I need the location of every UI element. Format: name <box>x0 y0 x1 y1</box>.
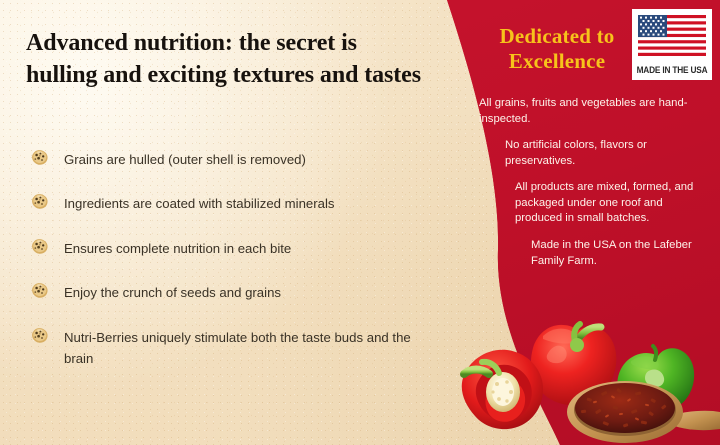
quality-claims-list: All grains, fruits and vegetables are ha… <box>455 96 720 280</box>
nutri-berry-icon <box>30 149 49 167</box>
benefit-list: Grains are hulled (outer shell is remove… <box>30 148 430 391</box>
panel-heading: Dedicated to Excellence <box>467 24 647 74</box>
list-item: Ingredients are coated with stabilized m… <box>30 192 430 214</box>
list-item-label: Nutri-Berries uniquely stimulate both th… <box>64 326 430 370</box>
list-item: Ensures complete nutrition in each bite <box>30 237 430 259</box>
list-item-label: Ingredients are coated with stabilized m… <box>64 192 335 214</box>
made-in-usa-badge: MADE IN THE USA <box>632 9 712 80</box>
list-item-label: Ensures complete nutrition in each bite <box>64 237 291 259</box>
nutri-berry-icon <box>30 238 49 256</box>
list-item: Enjoy the crunch of seeds and grains <box>30 281 430 303</box>
infographic-banner: Advanced nutrition: the secret is hullin… <box>0 0 720 445</box>
list-item: Nutri-Berries uniquely stimulate both th… <box>30 326 430 370</box>
claim-text: No artificial colors, flavors or preserv… <box>505 138 701 169</box>
nutri-berry-icon <box>30 193 49 211</box>
list-item: Grains are hulled (outer shell is remove… <box>30 148 430 170</box>
claim-text: Made in the USA on the Lafeber Family Fa… <box>531 238 707 269</box>
nutri-berry-icon <box>30 282 49 300</box>
badge-caption: MADE IN THE USA <box>635 65 709 75</box>
claim-text: All products are mixed, formed, and pack… <box>515 180 705 227</box>
usa-flag-icon <box>638 15 706 56</box>
list-item-label: Enjoy the crunch of seeds and grains <box>64 281 281 303</box>
list-item-label: Grains are hulled (outer shell is remove… <box>64 148 306 170</box>
nutri-berry-icon <box>30 327 49 345</box>
claim-text: All grains, fruits and vegetables are ha… <box>479 96 691 127</box>
page-title: Advanced nutrition: the secret is hullin… <box>26 28 422 92</box>
right-panel-content: Dedicated to Excellence <box>455 0 720 445</box>
